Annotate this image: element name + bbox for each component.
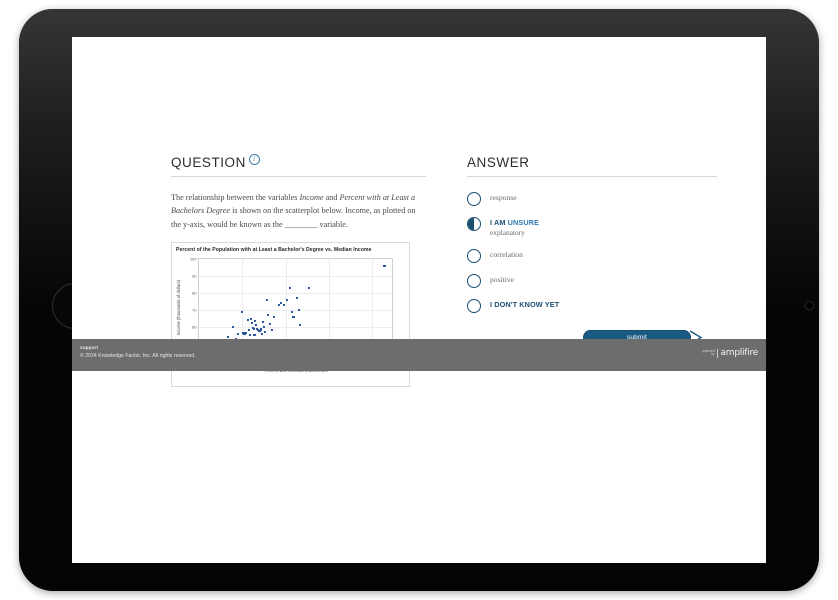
answer-option-text-0: response: [490, 192, 517, 202]
chart-data-point: [264, 331, 266, 333]
answer-option-2[interactable]: correlation: [467, 249, 717, 263]
answer-option-1[interactable]: I AM UNSUREexplanatory: [467, 217, 717, 238]
footer-text-block: support © 2024 Knowledge Factor, Inc. Al…: [80, 345, 196, 359]
chart-data-point: [299, 324, 301, 326]
chart-y-tick-80: 80: [192, 290, 196, 295]
question-heading: QUESTION i: [171, 155, 426, 177]
chart-data-point: [253, 328, 255, 330]
chart-y-tick-100: 100: [190, 256, 197, 261]
info-icon[interactable]: i: [249, 154, 260, 165]
chart-data-point: [253, 334, 255, 336]
question-variable-income: Income: [299, 193, 323, 202]
chart-data-point: [250, 318, 252, 320]
chart-data-point: [237, 333, 239, 335]
chart-data-point: [255, 324, 257, 326]
chart-gridline-y: [199, 293, 392, 294]
answer-option-4[interactable]: I DON'T KNOW YET: [467, 299, 717, 313]
chart-data-point: [285, 299, 287, 301]
answer-label-accent-1: UNSURE: [508, 218, 539, 227]
support-link[interactable]: support: [80, 345, 196, 350]
answer-option-label-4: I DON'T KNOW YET: [490, 300, 559, 309]
tablet-device: QUESTION i The relationship between the …: [19, 9, 819, 591]
chart-data-point: [296, 297, 298, 299]
chart-data-point: [263, 326, 265, 328]
chart-y-axis-label-text: Income (thousands of dollars): [176, 280, 181, 335]
answer-option-text-3: positive: [490, 274, 514, 284]
chart-data-point: [248, 329, 250, 331]
powered-by-text: powered by: [702, 350, 714, 357]
answer-option-label-1: I AM UNSURE: [490, 218, 539, 227]
chart-data-point: [271, 329, 273, 331]
chart-data-point: [262, 321, 264, 323]
answer-option-label-3: positive: [490, 275, 514, 284]
radio-button-2[interactable]: [467, 249, 481, 263]
chart-title: Percent of the Population with at Least …: [176, 247, 404, 253]
chart-y-tick-70: 70: [192, 307, 196, 312]
answer-heading: ANSWER: [467, 155, 717, 177]
chart-data-point: [249, 334, 251, 336]
question-text-part4: variable.: [317, 220, 347, 229]
radio-button-4[interactable]: [467, 299, 481, 313]
chart-y-tick-90: 90: [192, 273, 196, 278]
chart-gridline-y: [199, 276, 392, 277]
answer-options-list: responseI AM UNSUREexplanatorycorrelatio…: [467, 192, 717, 313]
brand-logo: powered by amplifire: [702, 348, 758, 358]
answer-label-plain-1: I AM: [490, 218, 508, 227]
amplifire-wordmark: amplifire: [721, 348, 758, 358]
chart-y-tick-60: 60: [192, 324, 196, 329]
question-text-part1: The relationship between the variables: [171, 193, 299, 202]
chart-data-point: [245, 332, 247, 334]
chart-data-point: [254, 320, 256, 322]
radio-button-1[interactable]: [467, 217, 481, 231]
chart-gridline-y: [199, 310, 392, 311]
chart-data-point: [227, 336, 229, 338]
chart-data-point: [292, 316, 294, 318]
chart-data-point: [283, 304, 285, 306]
chart-gridline-y: [199, 327, 392, 328]
copyright-text: © 2024 Knowledge Factor, Inc. All rights…: [80, 353, 196, 359]
app-page: QUESTION i The relationship between the …: [72, 37, 766, 563]
chart-data-point: [298, 309, 300, 311]
answer-option-0[interactable]: response: [467, 192, 717, 206]
question-blank: ________: [285, 220, 318, 229]
answer-option-sub-1: explanatory: [490, 229, 539, 238]
chart-data-point: [289, 287, 291, 289]
powered-line2: by: [702, 353, 714, 356]
brand-divider: [717, 349, 718, 358]
question-text-part2: and: [324, 193, 340, 202]
answer-option-3[interactable]: positive: [467, 274, 717, 288]
answer-option-text-2: correlation: [490, 249, 523, 259]
answer-option-text-4: I DON'T KNOW YET: [490, 299, 559, 309]
chart-data-point: [383, 265, 385, 267]
answer-heading-label: ANSWER: [467, 155, 530, 170]
answer-option-label-2: correlation: [490, 250, 523, 259]
page-footer: support © 2024 Knowledge Factor, Inc. Al…: [72, 339, 766, 371]
answer-column: ANSWER responseI AM UNSUREexplanatorycor…: [467, 155, 717, 346]
answer-option-text-1: I AM UNSUREexplanatory: [490, 217, 539, 238]
chart-data-point: [241, 311, 243, 313]
question-heading-label: QUESTION: [171, 155, 246, 170]
chart-data-point: [267, 314, 269, 316]
chart-data-point: [251, 321, 253, 323]
chart-data-point: [260, 328, 262, 330]
camera-icon: [806, 302, 813, 309]
answer-option-label-0: response: [490, 193, 517, 202]
radio-button-3[interactable]: [467, 274, 481, 288]
chart-data-point: [266, 299, 268, 301]
chart-data-point: [273, 316, 275, 318]
chart-data-point: [261, 333, 263, 335]
question-text: The relationship between the variables I…: [171, 191, 426, 231]
tablet-screen: QUESTION i The relationship between the …: [72, 37, 766, 563]
chart-data-point: [291, 311, 293, 313]
chart-data-point: [232, 326, 234, 328]
chart-data-point: [269, 323, 271, 325]
radio-button-0[interactable]: [467, 192, 481, 206]
chart-data-point: [308, 287, 310, 289]
